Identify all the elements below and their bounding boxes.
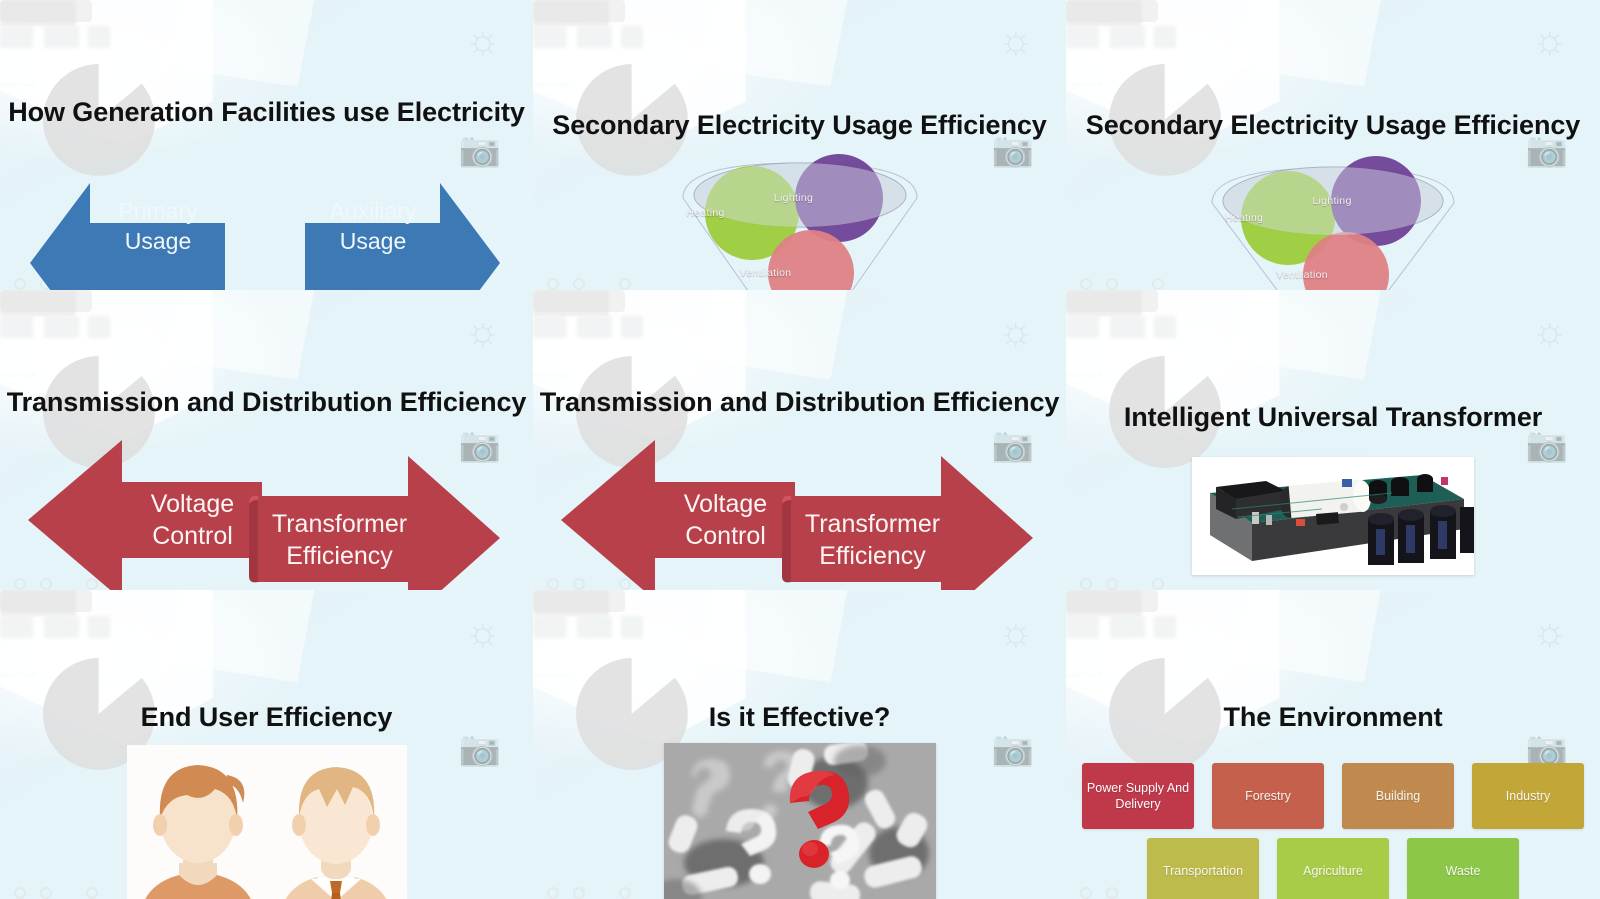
question-marks-image xyxy=(664,743,936,899)
panel-generation-facilities[interactable]: ☼ 📷 watermark How Generation Facilities … xyxy=(0,0,533,290)
heating-label: Heating xyxy=(533,207,972,219)
map-watermark xyxy=(533,316,643,338)
page-title: How Generation Facilities use Electricit… xyxy=(0,89,533,130)
circuit-board-image xyxy=(1192,457,1474,575)
double-arrow-diagram: Primary Usage Auxiliary Usage xyxy=(0,130,533,290)
red-arrows-svg xyxy=(0,420,533,590)
truck-watermark xyxy=(0,638,120,672)
sun-gear-icon: ☼ xyxy=(1531,311,1568,351)
map-watermark xyxy=(0,316,110,338)
sun-gear-icon: ☼ xyxy=(997,612,1034,652)
sun-gear-icon: ☼ xyxy=(464,311,501,351)
page-title: Transmission and Distribution Efficiency xyxy=(0,379,533,420)
panel-transmission-distribution-a[interactable]: ☼ 📷 watermark Transmission and Distribut… xyxy=(0,290,533,590)
panel-end-user-efficiency[interactable]: ☼ 📷 watermark End User Efficiency xyxy=(0,590,533,899)
sun-gear-icon: ☼ xyxy=(1531,20,1568,60)
environment-boxes: Power Supply And Delivery Forestry Build… xyxy=(1066,763,1600,899)
transformer-photo xyxy=(1192,457,1474,575)
lighting-label: Lighting xyxy=(1066,195,1599,207)
blue-arrows-svg xyxy=(0,130,533,290)
lighting-label: Lighting xyxy=(533,192,1060,204)
double-arrow-diagram: Voltage Control Transformer Efficiency xyxy=(0,420,533,590)
env-box-waste[interactable]: Waste xyxy=(1407,838,1519,899)
red-arrows-svg xyxy=(533,420,1066,590)
truck-watermark xyxy=(0,48,120,82)
page-title: End User Efficiency xyxy=(0,679,533,735)
camera-icon: 📷 xyxy=(992,732,1034,766)
map-watermark xyxy=(1066,616,1176,638)
question-marks-photo xyxy=(664,743,936,899)
truck-watermark xyxy=(533,48,653,82)
arrow-curl-fold xyxy=(782,496,791,583)
map-watermark xyxy=(533,616,643,638)
truck-watermark xyxy=(0,338,120,372)
auxiliary-usage-arrow xyxy=(305,183,500,290)
avatar-illustration xyxy=(127,745,407,899)
transformer-efficiency-arrow-body xyxy=(258,456,500,590)
voltage-control-arrow xyxy=(28,440,262,590)
sun-gear-icon: ☼ xyxy=(464,20,501,60)
env-box-agriculture[interactable]: Agriculture xyxy=(1277,838,1389,899)
double-arrow-diagram: Voltage Control Transformer Efficiency xyxy=(533,420,1066,590)
env-box-building[interactable]: Building xyxy=(1342,763,1454,829)
environment-boxes-row-1: Power Supply And Delivery Forestry Build… xyxy=(1066,763,1600,829)
page-title: Secondary Electricity Usage Efficiency xyxy=(1066,89,1600,143)
panel-secondary-usage-b[interactable]: ☼ 📷 watermark Secondary Electricity Usag… xyxy=(1066,0,1600,290)
env-box-industry[interactable]: Industry xyxy=(1472,763,1584,829)
panel-secondary-usage-a[interactable]: ☼ 📷 watermark Secondary Electricity Usag… xyxy=(533,0,1066,290)
map-watermark xyxy=(1066,26,1176,48)
ventilation-label: Ventilation xyxy=(1066,269,1569,281)
funnel-diagram: Heating Lighting Ventilation xyxy=(533,143,1066,290)
arrow-curl-fold xyxy=(249,496,258,583)
transformer-efficiency-arrow-body xyxy=(791,456,1033,590)
env-box-forestry[interactable]: Forestry xyxy=(1212,763,1324,829)
page-title: Transmission and Distribution Efficiency xyxy=(533,379,1066,420)
truck-watermark xyxy=(1066,638,1186,672)
page-title: Intelligent Universal Transformer xyxy=(1066,379,1600,435)
panel-is-it-effective[interactable]: ☼ 📷 watermark Is it Effective? xyxy=(533,590,1066,899)
truck-watermark xyxy=(533,638,653,672)
truck-watermark xyxy=(533,338,653,372)
page-title: Secondary Electricity Usage Efficiency xyxy=(533,89,1066,143)
map-watermark xyxy=(1066,316,1176,338)
ventilation-label: Ventilation xyxy=(533,267,1032,279)
panel-the-environment[interactable]: ☼ 📷 watermark The Environment Power Supp… xyxy=(1066,590,1600,899)
camera-icon: 📷 xyxy=(1526,732,1568,766)
funnel-diagram: Heating Lighting Ventilation xyxy=(1066,143,1600,290)
end-user-avatars xyxy=(127,745,407,899)
heating-label: Heating xyxy=(1066,212,1511,224)
page-title: Is it Effective? xyxy=(533,679,1066,735)
slide-grid: ☼ 📷 watermark How Generation Facilities … xyxy=(0,0,1600,899)
sun-gear-icon: ☼ xyxy=(1531,612,1568,652)
map-watermark xyxy=(0,616,110,638)
sun-gear-icon: ☼ xyxy=(997,20,1034,60)
truck-watermark xyxy=(1066,338,1186,372)
camera-icon: 📷 xyxy=(459,732,501,766)
truck-watermark xyxy=(1066,48,1186,82)
primary-usage-arrow xyxy=(30,183,225,290)
transformer-efficiency-arrow xyxy=(255,428,505,468)
panel-intelligent-universal-transformer[interactable]: ☼ 📷 watermark Intelligent Universal Tran… xyxy=(1066,290,1600,590)
voltage-control-arrow xyxy=(561,440,795,590)
page-title: The Environment xyxy=(1066,679,1600,735)
map-watermark xyxy=(0,26,110,48)
environment-boxes-row-2: Transportation Agriculture Waste xyxy=(1066,838,1600,899)
map-watermark xyxy=(533,26,643,48)
sun-gear-icon: ☼ xyxy=(464,612,501,652)
env-box-power-supply[interactable]: Power Supply And Delivery xyxy=(1082,763,1194,829)
env-box-transportation[interactable]: Transportation xyxy=(1147,838,1259,899)
sun-gear-icon: ☼ xyxy=(997,311,1034,351)
panel-transmission-distribution-b[interactable]: ☼ 📷 watermark Transmission and Distribut… xyxy=(533,290,1066,590)
